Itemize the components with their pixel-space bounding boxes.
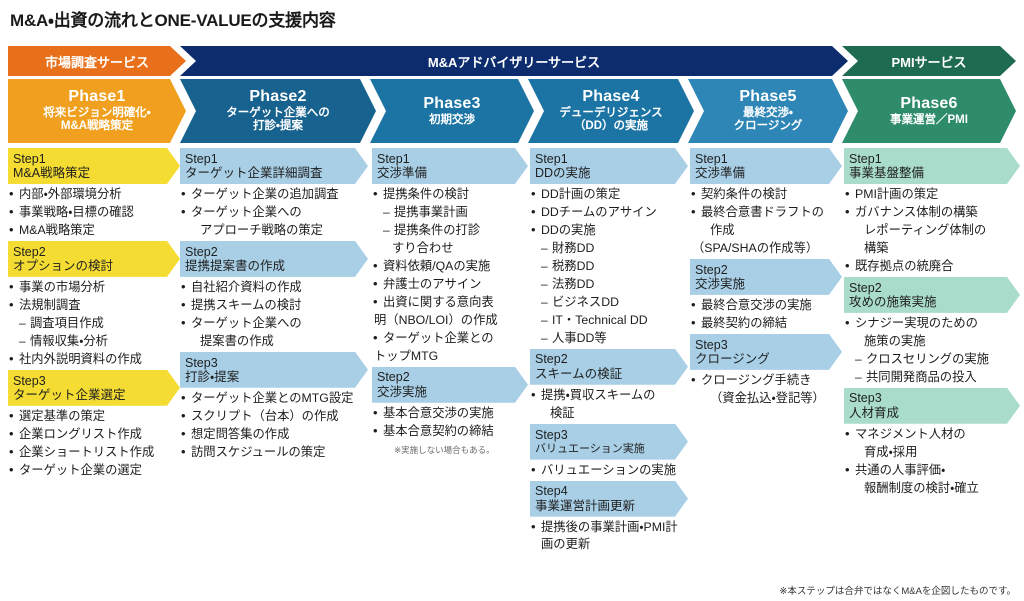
step-title: クロージング bbox=[695, 352, 842, 366]
task-item: すり合わせ bbox=[372, 240, 528, 257]
step-title: 交渉実施 bbox=[695, 277, 842, 291]
phase-chevron: Phase3初期交渉 bbox=[370, 79, 534, 143]
task-item: レポーティング体制の bbox=[844, 222, 1020, 239]
step-number: Step2 bbox=[185, 245, 368, 259]
step-title: 提携提案書の作成 bbox=[185, 259, 368, 273]
step-task-list: シナジー実現のための施策の実施クロスセリングの実施共同開発商品の投入 bbox=[844, 315, 1020, 386]
step-header-phase2-2[interactable]: Step2提携提案書の作成 bbox=[180, 241, 368, 277]
task-item: 財務DD bbox=[530, 240, 688, 257]
column-content: Step1交渉準備契約条件の検討最終合意書ドラフトの作成（SPA/SHAの作成等… bbox=[690, 148, 842, 601]
task-item: 育成・採用 bbox=[844, 444, 1020, 461]
task-item: ターゲット企業とのMTG設定 bbox=[180, 390, 368, 407]
step-number: Step1 bbox=[185, 152, 368, 166]
task-item: 自社紹介資料の作成 bbox=[180, 279, 368, 296]
task-item: IT・Technical DD bbox=[530, 312, 688, 329]
phase-name: Phase5 bbox=[739, 88, 796, 107]
task-item: 法規制調査 bbox=[8, 297, 180, 314]
step-task-list: 提携・買収スキームの検証 bbox=[530, 387, 688, 422]
phase-band-1: Phase1将来ビジョン明確化・M&A戦略策定 bbox=[8, 79, 186, 143]
task-item: 想定問答集の作成 bbox=[180, 426, 368, 443]
phase-subtitle-line: （DD）の実施 bbox=[574, 120, 648, 134]
service-band-1: 市場調査サービス bbox=[8, 46, 186, 76]
task-item: アプローチ戦略の策定 bbox=[180, 222, 368, 239]
phase-chevron: Phase1将来ビジョン明確化・M&A戦略策定 bbox=[8, 79, 186, 143]
step-task-list: クロージング手続き（資金払込・登記等） bbox=[690, 372, 842, 407]
step-number: Step2 bbox=[13, 245, 180, 259]
step-number: Step1 bbox=[535, 152, 688, 166]
phase-column-phase5: Step1交渉準備契約条件の検討最終合意書ドラフトの作成（SPA/SHAの作成等… bbox=[690, 148, 842, 601]
phase-subtitle-line: M&A戦略策定 bbox=[61, 120, 133, 134]
step-number: Step3 bbox=[535, 428, 688, 442]
step-task-list: 内部・外部環境分析事業戦略・目標の確認M&A戦略策定 bbox=[8, 186, 180, 239]
task-item: トップMTG bbox=[372, 348, 528, 365]
step-title: 人材育成 bbox=[849, 406, 1020, 420]
task-item: 明（NBO/LOI）の作成 bbox=[372, 312, 528, 329]
phase-name: Phase6 bbox=[900, 95, 957, 114]
step-header-phase1-3[interactable]: Step3ターゲット企業選定 bbox=[8, 370, 180, 406]
task-item: 選定基準の策定 bbox=[8, 408, 180, 425]
task-item: バリュエーションの実施 bbox=[530, 462, 688, 479]
step-number: Step2 bbox=[849, 281, 1020, 295]
task-item: 提携条件の打診 bbox=[372, 222, 528, 239]
task-item: ターゲット企業への bbox=[180, 315, 368, 332]
step-title: オプションの検討 bbox=[13, 259, 180, 273]
task-item: 最終合意書ドラフトの bbox=[690, 204, 842, 221]
phase-subtitle-line: 最終交渉・ bbox=[743, 107, 793, 121]
task-item: 基本合意交渉の実施 bbox=[372, 405, 528, 422]
task-item: 提携スキームの検討 bbox=[180, 297, 368, 314]
phase-subtitle-line: デューデリジェンス bbox=[559, 107, 662, 121]
step-task-list: DD計画の策定DDチームのアサインDDの実施財務DD税務DD法務DDビジネスDD… bbox=[530, 186, 688, 347]
step-title: スキームの検証 bbox=[535, 367, 688, 381]
step-title: ターゲット企業詳細調査 bbox=[185, 166, 368, 180]
step-number: Step1 bbox=[377, 152, 528, 166]
step-task-list: バリュエーションの実施 bbox=[530, 462, 688, 479]
task-item: 構築 bbox=[844, 240, 1020, 257]
phase-subtitle-line: ターゲット企業への bbox=[226, 107, 330, 121]
service-band-label: M&Aアドバイザリーサービス bbox=[180, 46, 848, 76]
task-item: 訪問スケジュールの策定 bbox=[180, 444, 368, 461]
step-header-phase5-2[interactable]: Step2交渉実施 bbox=[690, 259, 842, 295]
step-task-list: ターゲット企業とのMTG設定スクリプト（台本）の作成想定問答集の作成訪問スケジュ… bbox=[180, 390, 368, 461]
step-task-list: 自社紹介資料の作成提携スキームの検討ターゲット企業への提案書の作成 bbox=[180, 279, 368, 350]
step-title: ターゲット企業選定 bbox=[13, 388, 180, 402]
step-task-list: 基本合意交渉の実施基本合意契約の締結 bbox=[372, 405, 528, 440]
task-item: スクリプト（台本）の作成 bbox=[180, 408, 368, 425]
step-task-list: 最終合意交渉の実施最終契約の締結 bbox=[690, 297, 842, 332]
task-item: DD計画の策定 bbox=[530, 186, 688, 203]
phase-chevron: Phase4デューデリジェンス（DD）の実施 bbox=[528, 79, 694, 143]
step-number: Step3 bbox=[13, 374, 180, 388]
phase-column-phase6: Step1事業基盤整備PMI計画の策定ガバナンス体制の構築レポーティング体制の構… bbox=[844, 148, 1020, 601]
step-header-phase2-1[interactable]: Step1ターゲット企業詳細調査 bbox=[180, 148, 368, 184]
step-task-list: PMI計画の策定ガバナンス体制の構築レポーティング体制の構築既存拠点の統廃合 bbox=[844, 186, 1020, 275]
step-number: Step2 bbox=[695, 263, 842, 277]
task-item: 施策の実施 bbox=[844, 333, 1020, 350]
task-item: 共同開発商品の投入 bbox=[844, 369, 1020, 386]
phase-name: Phase2 bbox=[249, 88, 306, 107]
column-content: Step1ターゲット企業詳細調査ターゲット企業の追加調査ターゲット企業へのアプロ… bbox=[180, 148, 368, 601]
service-band-3: PMIサービス bbox=[842, 46, 1016, 76]
phase-subtitle-line: 打診・提案 bbox=[253, 120, 303, 134]
task-item: 企業ロングリスト作成 bbox=[8, 426, 180, 443]
phase-chevron: Phase2ターゲット企業への打診・提案 bbox=[180, 79, 376, 143]
task-item: 提携後の事業計画・PMI計画の更新 bbox=[530, 519, 688, 553]
phase-band-5: Phase5最終交渉・クロージング bbox=[688, 79, 848, 143]
phase-column-phase3: Step1交渉準備提携条件の検討提携事業計画提携条件の打診すり合わせ資料依頼/Q… bbox=[372, 148, 528, 601]
task-item: PMI計画の策定 bbox=[844, 186, 1020, 203]
task-item: 基本合意契約の締結 bbox=[372, 423, 528, 440]
step-number: Step3 bbox=[849, 391, 1020, 405]
task-item: ガバナンス体制の構築 bbox=[844, 204, 1020, 221]
task-item: 法務DD bbox=[530, 276, 688, 293]
task-item: 共通の人事評価・ bbox=[844, 462, 1020, 479]
column-content: Step1事業基盤整備PMI計画の策定ガバナンス体制の構築レポーティング体制の構… bbox=[844, 148, 1020, 601]
task-item: 税務DD bbox=[530, 258, 688, 275]
task-item: 資料依頼/QAの実施 bbox=[372, 258, 528, 275]
step-header-phase4-4[interactable]: Step4事業運営計画更新 bbox=[530, 481, 688, 517]
task-item: マネジメント人材の bbox=[844, 426, 1020, 443]
task-item: 提案書の作成 bbox=[180, 333, 368, 350]
task-item: ターゲット企業の選定 bbox=[8, 462, 180, 479]
task-item: 最終合意交渉の実施 bbox=[690, 297, 842, 314]
task-item: ビジネスDD bbox=[530, 294, 688, 311]
step-header-phase2-3[interactable]: Step3打診・提案 bbox=[180, 352, 368, 388]
diagram-root: M&A・出資の流れとONE-VALUEの支援内容 市場調査サービスM&Aアドバイ… bbox=[0, 0, 1024, 601]
task-item: 出資に関する意向表 bbox=[372, 294, 528, 311]
step-header-phase6-2[interactable]: Step2攻めの施策実施 bbox=[844, 277, 1020, 313]
step-title: バリュエーション実施 bbox=[535, 443, 688, 456]
step-title: M&A戦略策定 bbox=[13, 166, 180, 180]
step-number: Step1 bbox=[849, 152, 1020, 166]
task-item: 既存拠点の統廃合 bbox=[844, 258, 1020, 275]
task-item: 調査項目作成 bbox=[8, 315, 180, 332]
step-number: Step3 bbox=[185, 356, 368, 370]
task-item: シナジー実現のための bbox=[844, 315, 1020, 332]
task-item: 作成 bbox=[690, 222, 842, 239]
column-content: Step1M&A戦略策定内部・外部環境分析事業戦略・目標の確認M&A戦略策定St… bbox=[8, 148, 180, 601]
phase-band-4: Phase4デューデリジェンス（DD）の実施 bbox=[528, 79, 694, 143]
step-number: Step2 bbox=[535, 352, 688, 366]
service-band-2: M&Aアドバイザリーサービス bbox=[180, 46, 848, 76]
task-item: 弁護士のアサイン bbox=[372, 276, 528, 293]
task-item: DDチームのアサイン bbox=[530, 204, 688, 221]
step-title: 攻めの施策実施 bbox=[849, 295, 1020, 309]
step-header-phase4-3[interactable]: Step3バリュエーション実施 bbox=[530, 424, 688, 460]
column-content: Step1DDの実施DD計画の策定DDチームのアサインDDの実施財務DD税務DD… bbox=[530, 148, 688, 601]
phase-chevron: Phase5最終交渉・クロージング bbox=[688, 79, 848, 143]
step-title: 交渉準備 bbox=[695, 166, 842, 180]
step-header-phase6-3[interactable]: Step3人材育成 bbox=[844, 388, 1020, 424]
step-number: Step1 bbox=[695, 152, 842, 166]
step-task-list: 選定基準の策定企業ロングリスト作成企業ショートリスト作成ターゲット企業の選定 bbox=[8, 408, 180, 479]
phase-chevron: Phase6事業運営／PMI bbox=[842, 79, 1016, 143]
task-item: 企業ショートリスト作成 bbox=[8, 444, 180, 461]
service-band-label: 市場調査サービス bbox=[8, 46, 186, 76]
phase-subtitle-line: クロージング bbox=[734, 120, 803, 134]
task-item: M&A戦略策定 bbox=[8, 222, 180, 239]
step-header-phase4-1[interactable]: Step1DDの実施 bbox=[530, 148, 688, 184]
step-task-list: マネジメント人材の育成・採用共通の人事評価・報酬制度の検討・確立 bbox=[844, 426, 1020, 497]
step-title: 事業運営計画更新 bbox=[535, 499, 688, 513]
step-task-list: 契約条件の検討最終合意書ドラフトの作成（SPA/SHAの作成等） bbox=[690, 186, 842, 257]
task-item: （資金払込・登記等） bbox=[690, 390, 842, 407]
task-item: ターゲット企業との bbox=[372, 330, 528, 347]
phase-subtitle-line: 将来ビジョン明確化・ bbox=[43, 107, 150, 121]
step-title: 交渉実施 bbox=[377, 385, 528, 399]
phase-band-6: Phase6事業運営／PMI bbox=[842, 79, 1016, 143]
task-item: ターゲット企業への bbox=[180, 204, 368, 221]
task-item: ターゲット企業の追加調査 bbox=[180, 186, 368, 203]
phase-subtitle-line: 初期交渉 bbox=[429, 114, 475, 128]
step-number: Step1 bbox=[13, 152, 180, 166]
step-task-list: ターゲット企業の追加調査ターゲット企業へのアプローチ戦略の策定 bbox=[180, 186, 368, 239]
phase-name: Phase4 bbox=[582, 88, 639, 107]
task-item: 人事DD等 bbox=[530, 330, 688, 347]
task-item: 情報収集・分析 bbox=[8, 333, 180, 350]
step-note: ※実施しない場合もある。 bbox=[394, 444, 528, 456]
task-item: 報酬制度の検討・確立 bbox=[844, 480, 1020, 497]
service-band-label: PMIサービス bbox=[842, 46, 1016, 76]
step-header-phase1-2[interactable]: Step2オプションの検討 bbox=[8, 241, 180, 277]
step-header-phase4-2[interactable]: Step2スキームの検証 bbox=[530, 349, 688, 385]
task-item: 提携事業計画 bbox=[372, 204, 528, 221]
task-item: 検証 bbox=[530, 405, 688, 422]
task-item: クロージング手続き bbox=[690, 372, 842, 389]
task-item: 最終契約の締結 bbox=[690, 315, 842, 332]
step-number: Step3 bbox=[695, 338, 842, 352]
task-item: クロスセリングの実施 bbox=[844, 351, 1020, 368]
phase-name: Phase1 bbox=[68, 88, 125, 107]
task-item: 事業の市場分析 bbox=[8, 279, 180, 296]
step-title: 打診・提案 bbox=[185, 370, 368, 384]
phase-band-2: Phase2ターゲット企業への打診・提案 bbox=[180, 79, 376, 143]
step-header-phase3-2[interactable]: Step2交渉実施 bbox=[372, 367, 528, 403]
step-title: 事業基盤整備 bbox=[849, 166, 1020, 180]
step-task-list: 事業の市場分析法規制調査調査項目作成情報収集・分析社内外説明資料の作成 bbox=[8, 279, 180, 368]
phase-column-phase2: Step1ターゲット企業詳細調査ターゲット企業の追加調査ターゲット企業へのアプロ… bbox=[180, 148, 368, 601]
step-number: Step2 bbox=[377, 370, 528, 384]
phase-column-phase4: Step1DDの実施DD計画の策定DDチームのアサインDDの実施財務DD税務DD… bbox=[530, 148, 688, 601]
step-number: Step4 bbox=[535, 484, 688, 498]
step-task-list: 提携後の事業計画・PMI計画の更新 bbox=[530, 519, 688, 553]
task-item: 内部・外部環境分析 bbox=[8, 186, 180, 203]
step-task-list: 提携条件の検討提携事業計画提携条件の打診すり合わせ資料依頼/QAの実施弁護士のア… bbox=[372, 186, 528, 365]
phase-name: Phase3 bbox=[423, 95, 480, 114]
step-header-phase6-1[interactable]: Step1事業基盤整備 bbox=[844, 148, 1020, 184]
step-title: 交渉準備 bbox=[377, 166, 528, 180]
step-header-phase1-1[interactable]: Step1M&A戦略策定 bbox=[8, 148, 180, 184]
task-item: 提携条件の検討 bbox=[372, 186, 528, 203]
task-item: 契約条件の検討 bbox=[690, 186, 842, 203]
step-title: DDの実施 bbox=[535, 166, 688, 180]
phase-band-3: Phase3初期交渉 bbox=[370, 79, 534, 143]
phase-subtitle-line: 事業運営／PMI bbox=[890, 114, 968, 128]
step-header-phase5-1[interactable]: Step1交渉準備 bbox=[690, 148, 842, 184]
task-item: 事業戦略・目標の確認 bbox=[8, 204, 180, 221]
footer-note: ※本ステップは合弁ではなくM&Aを企図したものです。 bbox=[779, 583, 1016, 597]
task-item: 提携・買収スキームの bbox=[530, 387, 688, 404]
phase-column-phase1: Step1M&A戦略策定内部・外部環境分析事業戦略・目標の確認M&A戦略策定St… bbox=[8, 148, 180, 601]
column-content: Step1交渉準備提携条件の検討提携事業計画提携条件の打診すり合わせ資料依頼/Q… bbox=[372, 148, 528, 601]
task-item: 社内外説明資料の作成 bbox=[8, 351, 180, 368]
step-header-phase5-3[interactable]: Step3クロージング bbox=[690, 334, 842, 370]
step-header-phase3-1[interactable]: Step1交渉準備 bbox=[372, 148, 528, 184]
task-item: DDの実施 bbox=[530, 222, 688, 239]
page-title: M&A・出資の流れとONE-VALUEの支援内容 bbox=[10, 6, 336, 31]
task-item: （SPA/SHAの作成等） bbox=[690, 240, 842, 257]
